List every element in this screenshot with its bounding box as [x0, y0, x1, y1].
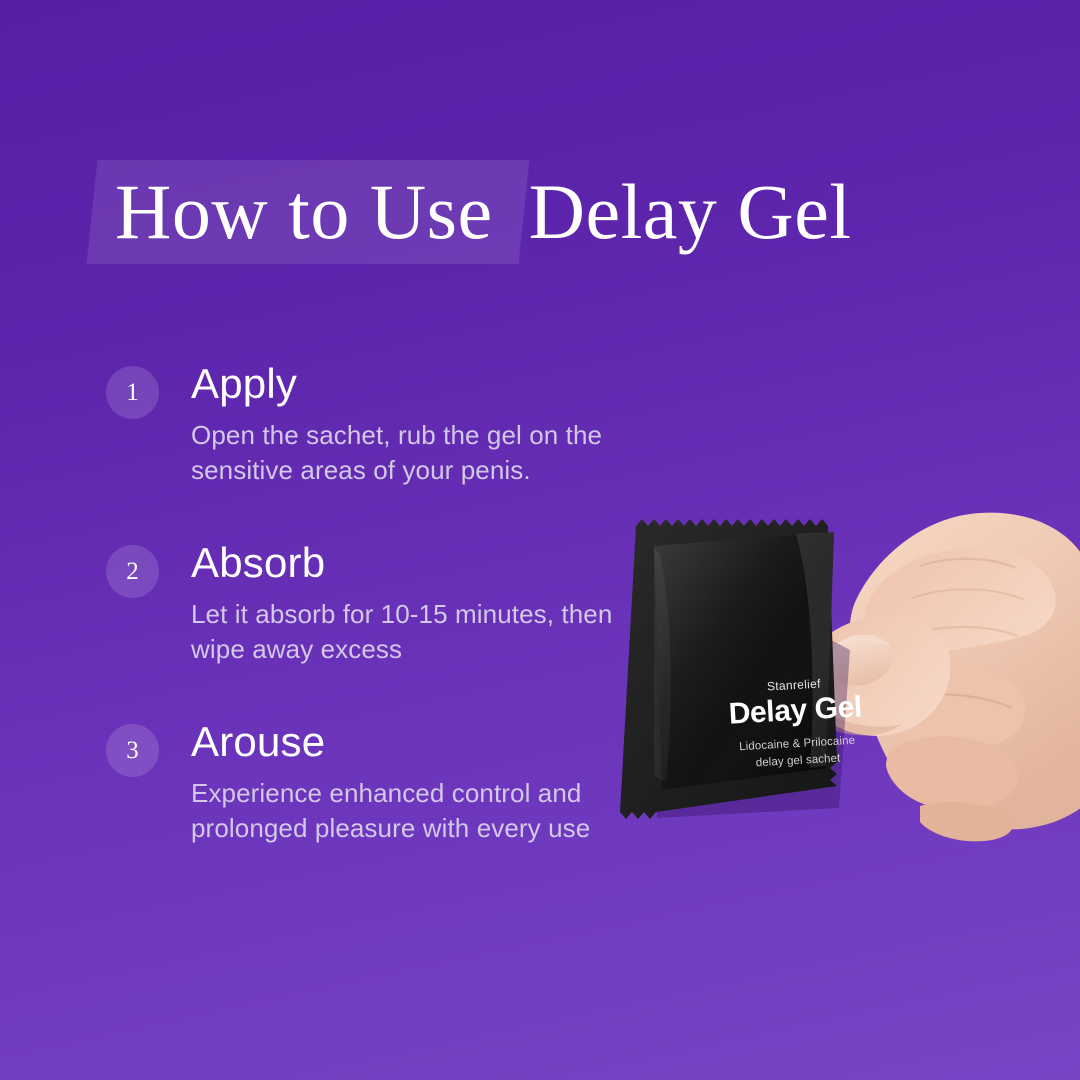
title-highlighted-text: How to Use: [115, 168, 493, 255]
title-text-wrapper: How to UseDelay Gel: [88, 173, 852, 251]
step-number-1: 1: [126, 380, 139, 405]
hand-holding-sachet-illustration: [620, 470, 1080, 900]
step-description-2: Let it absorb for 10-15 minutes, then wi…: [191, 597, 661, 668]
page-title: How to UseDelay Gel: [88, 160, 852, 264]
step-title-2: Absorb: [191, 541, 666, 585]
step-item-absorb: 2 Absorb Let it absorb for 10-15 minutes…: [106, 541, 666, 668]
step-body-3: Arouse Experience enhanced control and p…: [191, 720, 666, 847]
step-number-badge-2: 2: [106, 545, 159, 598]
step-body-2: Absorb Let it absorb for 10-15 minutes, …: [191, 541, 666, 668]
step-description-3: Experience enhanced control and prolonge…: [191, 776, 661, 847]
step-title-1: Apply: [191, 362, 666, 406]
step-body-1: Apply Open the sachet, rub the gel on th…: [191, 362, 666, 489]
step-number-2: 2: [126, 559, 139, 584]
step-item-arouse: 3 Arouse Experience enhanced control and…: [106, 720, 666, 847]
step-number-badge-1: 1: [106, 366, 159, 419]
title-rest-text: Delay Gel: [529, 168, 852, 255]
sachet-packet: [620, 510, 860, 830]
poster-canvas: How to UseDelay Gel 1 Apply Open the sac…: [0, 0, 1080, 1080]
step-number-badge-3: 3: [106, 724, 159, 777]
step-title-3: Arouse: [191, 720, 666, 764]
step-item-apply: 1 Apply Open the sachet, rub the gel on …: [106, 362, 666, 489]
steps-list: 1 Apply Open the sachet, rub the gel on …: [106, 362, 666, 846]
step-description-1: Open the sachet, rub the gel on the sens…: [191, 418, 661, 489]
step-number-3: 3: [126, 738, 139, 763]
product-photo: Stanrelief Delay Gel Lidocaine & Priloca…: [620, 470, 1080, 900]
